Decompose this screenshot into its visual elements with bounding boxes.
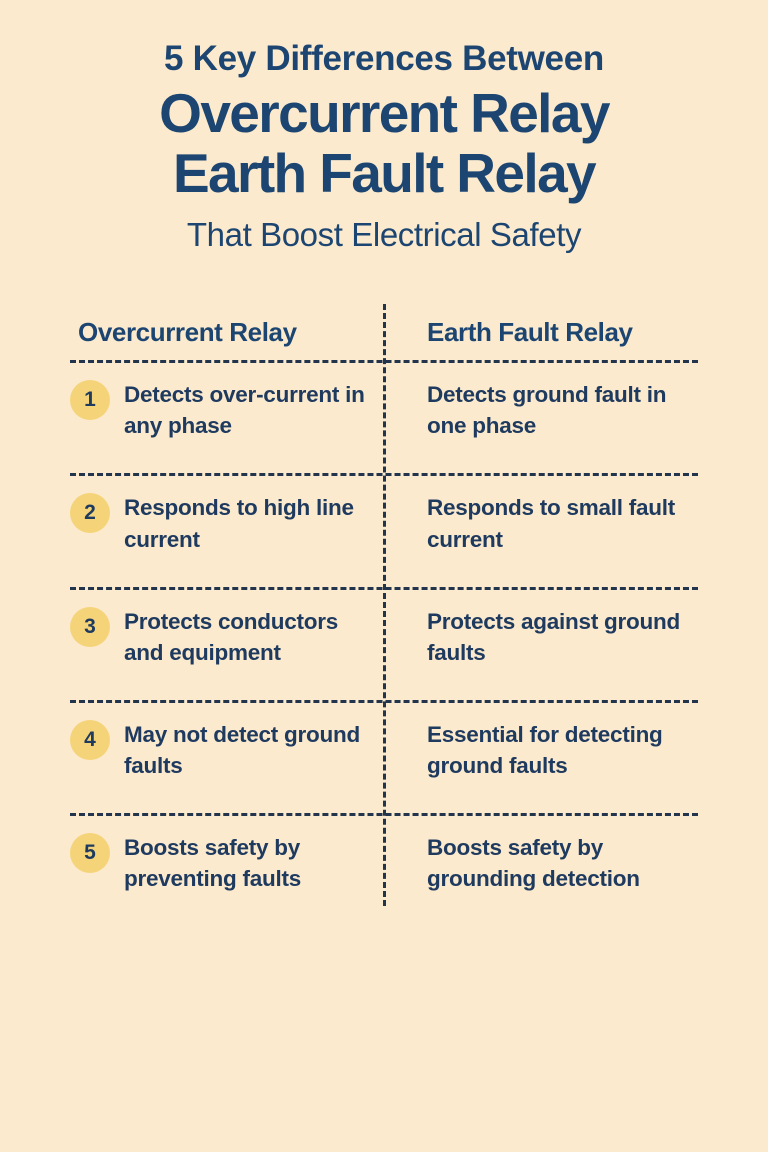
row-number-badge: 5 [70, 833, 110, 873]
header: 5 Key Differences Between Overcurrent Re… [0, 0, 768, 254]
column-header-overcurrent: Overcurrent Relay [70, 318, 383, 347]
row-number-badge: 1 [70, 380, 110, 420]
comparison-table: Overcurrent Relay Earth Fault Relay 1 De… [70, 300, 698, 911]
row-number-badge: 2 [70, 493, 110, 533]
page-title-line-1: Overcurrent Relay [54, 85, 714, 143]
infographic-page: 5 Key Differences Between Overcurrent Re… [0, 0, 768, 1152]
column-divider [383, 304, 386, 905]
cell-overcurrent: 3 Protects conductors and equipment [70, 606, 383, 668]
column-header-earth-fault: Earth Fault Relay [383, 318, 698, 347]
cell-overcurrent: 5 Boosts safety by preventing faults [70, 832, 383, 894]
cell-text-overcurrent: Responds to high line current [124, 492, 365, 554]
cell-earth-fault: Essential for detecting ground faults [383, 719, 698, 781]
cell-earth-fault: Protects against ground faults [383, 606, 698, 668]
cell-earth-fault: Boosts safety by grounding detection [383, 832, 698, 894]
cell-text-overcurrent: May not detect ground faults [124, 719, 365, 781]
cell-overcurrent: 1 Detects over-current in any phase [70, 379, 383, 441]
cell-text-earth-fault: Boosts safety by grounding detection [427, 832, 692, 894]
cell-overcurrent: 4 May not detect ground faults [70, 719, 383, 781]
eyebrow-text: 5 Key Differences Between [54, 38, 714, 79]
cell-text-earth-fault: Protects against ground faults [427, 606, 692, 668]
subtitle-text: That Boost Electrical Safety [54, 215, 714, 255]
cell-text-earth-fault: Responds to small fault current [427, 492, 692, 554]
cell-earth-fault: Detects ground fault in one phase [383, 379, 698, 441]
cell-overcurrent: 2 Responds to high line current [70, 492, 383, 554]
cell-text-earth-fault: Detects ground fault in one phase [427, 379, 692, 441]
cell-text-overcurrent: Detects over-current in any phase [124, 379, 365, 441]
row-number-badge: 3 [70, 607, 110, 647]
cell-earth-fault: Responds to small fault current [383, 492, 698, 554]
cell-text-earth-fault: Essential for detecting ground faults [427, 719, 692, 781]
cell-text-overcurrent: Boosts safety by preventing faults [124, 832, 365, 894]
row-number-badge: 4 [70, 720, 110, 760]
page-title-line-2: Earth Fault Relay [54, 145, 714, 203]
cell-text-overcurrent: Protects conductors and equipment [124, 606, 365, 668]
